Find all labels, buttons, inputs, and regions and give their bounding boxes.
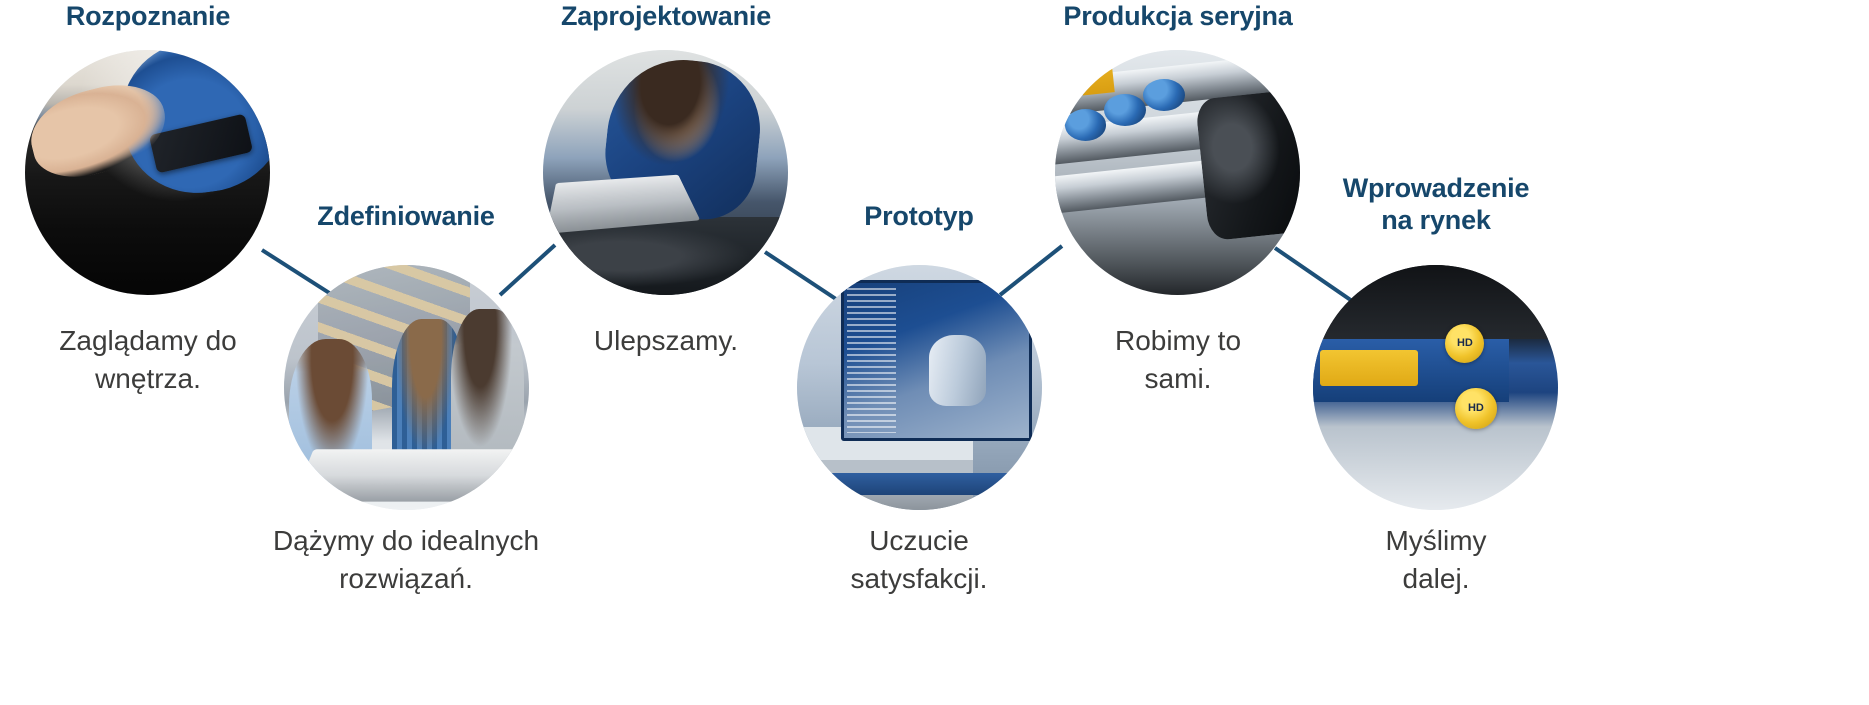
step-1-title: Rozpoznanie: [22, 0, 274, 32]
step-4-caption: Uczucie satysfakcji.: [780, 522, 1058, 598]
yellow-marker-shape: [1077, 50, 1114, 96]
black-body-shape: [1195, 89, 1300, 242]
blue-cap-3: [1143, 79, 1185, 111]
photo-scene-prototype: [797, 265, 1042, 510]
table-shape: [292, 450, 529, 502]
step-5-photo: [1055, 50, 1300, 295]
photo-scene-series-production: [1055, 50, 1300, 295]
step-2-caption: Dążymy do idealnych rozwiązań.: [253, 522, 559, 598]
step-1-photo: [25, 50, 270, 295]
step-2-title: Zdefiniowanie: [280, 200, 532, 232]
blue-cap-1: [1065, 109, 1107, 141]
step-6-photo: HD HD: [1313, 265, 1558, 510]
hd-sticker-1: HD: [1445, 324, 1484, 363]
tablet-shape: [149, 113, 253, 173]
step-3-title: Zaprojektowanie: [530, 0, 802, 32]
blue-cap-2: [1104, 94, 1146, 126]
rail-shape: [797, 473, 1042, 495]
process-infographic: Rozpoznanie Zaglądamy do wnętrza. Zdefin…: [0, 0, 1869, 705]
step-1-caption: Zaglądamy do wnętrza.: [22, 322, 274, 398]
step-6-title: Wprowadzenie na rynek: [1310, 172, 1562, 236]
photo-scene-recognition: [25, 50, 270, 295]
photo-scene-market-launch: HD HD: [1313, 265, 1558, 510]
step-5-title: Produkcja seryjna: [1040, 0, 1316, 32]
hd-sticker-label-2: HD: [1455, 388, 1497, 430]
step-3-caption: Ulepszamy.: [530, 322, 802, 360]
step-6-caption: Myślimy dalej.: [1310, 522, 1562, 598]
photo-scene-design: [543, 50, 788, 295]
hd-sticker-label: HD: [1445, 324, 1484, 363]
hd-sticker-2: HD: [1455, 388, 1497, 430]
cad-part-shape: [929, 335, 986, 406]
step-5-caption: Robimy to sami.: [1040, 322, 1316, 398]
step-4-photo: [797, 265, 1042, 510]
step-3-photo: [543, 50, 788, 295]
cad-monitor-shape: [841, 280, 1032, 442]
step-2-photo: [284, 265, 529, 510]
step-4-title: Prototyp: [793, 200, 1045, 232]
photo-scene-definition: [284, 265, 529, 510]
